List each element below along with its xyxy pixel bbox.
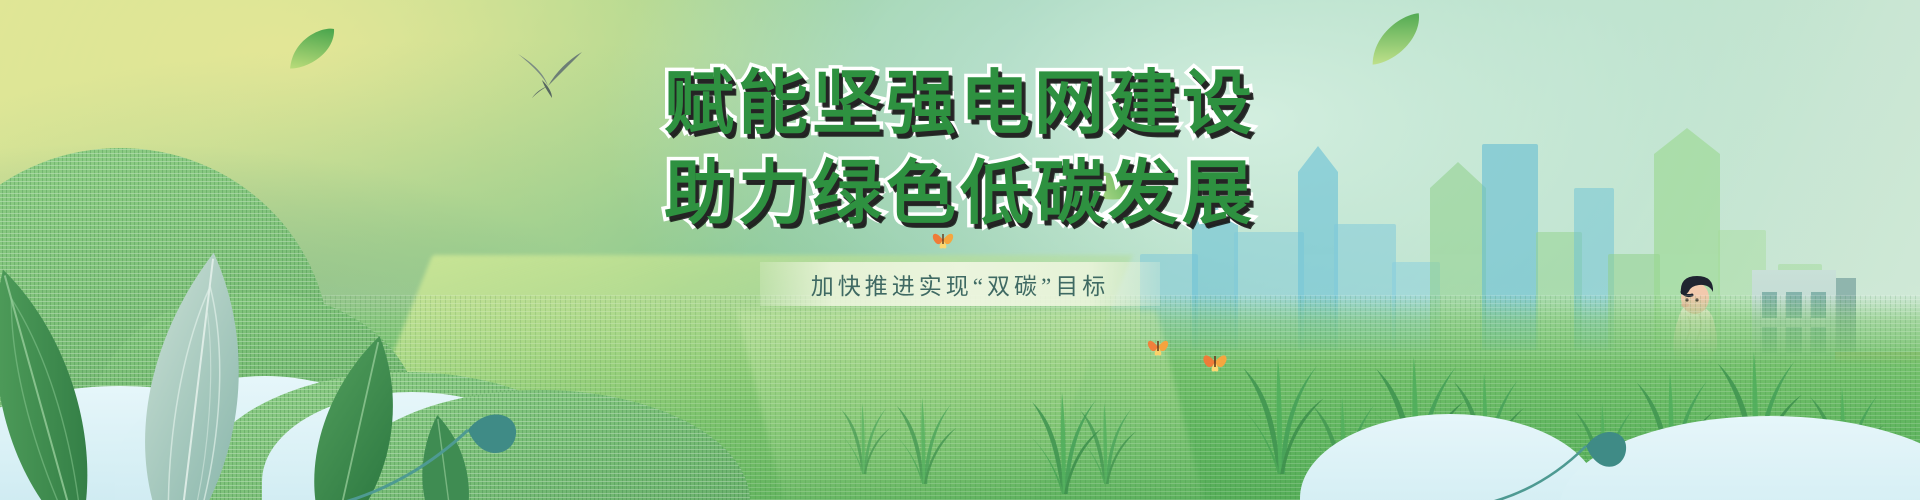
promo-banner: 赋能坚强电网建设 助力绿色低碳发展 加快推进实现“双碳”目标 <box>0 0 1920 500</box>
grass-blade-cluster <box>833 397 893 474</box>
grass-blade-cluster <box>1071 396 1140 484</box>
stemmed-leaf-teal-right <box>1478 410 1628 500</box>
subtitle-bar: 加快推进实现“双碳”目标 <box>760 262 1160 306</box>
butterfly-left <box>1145 333 1171 362</box>
foreground-leaf-sage <box>108 245 285 500</box>
butterfly-mid <box>1200 347 1230 378</box>
subtitle-text: 加快推进实现“双碳”目标 <box>811 267 1109 301</box>
stemmed-leaf-teal <box>330 386 520 500</box>
swallow-bird-icon <box>512 52 584 105</box>
butterfly-title <box>930 226 956 255</box>
grass-blade-cluster <box>886 391 959 485</box>
